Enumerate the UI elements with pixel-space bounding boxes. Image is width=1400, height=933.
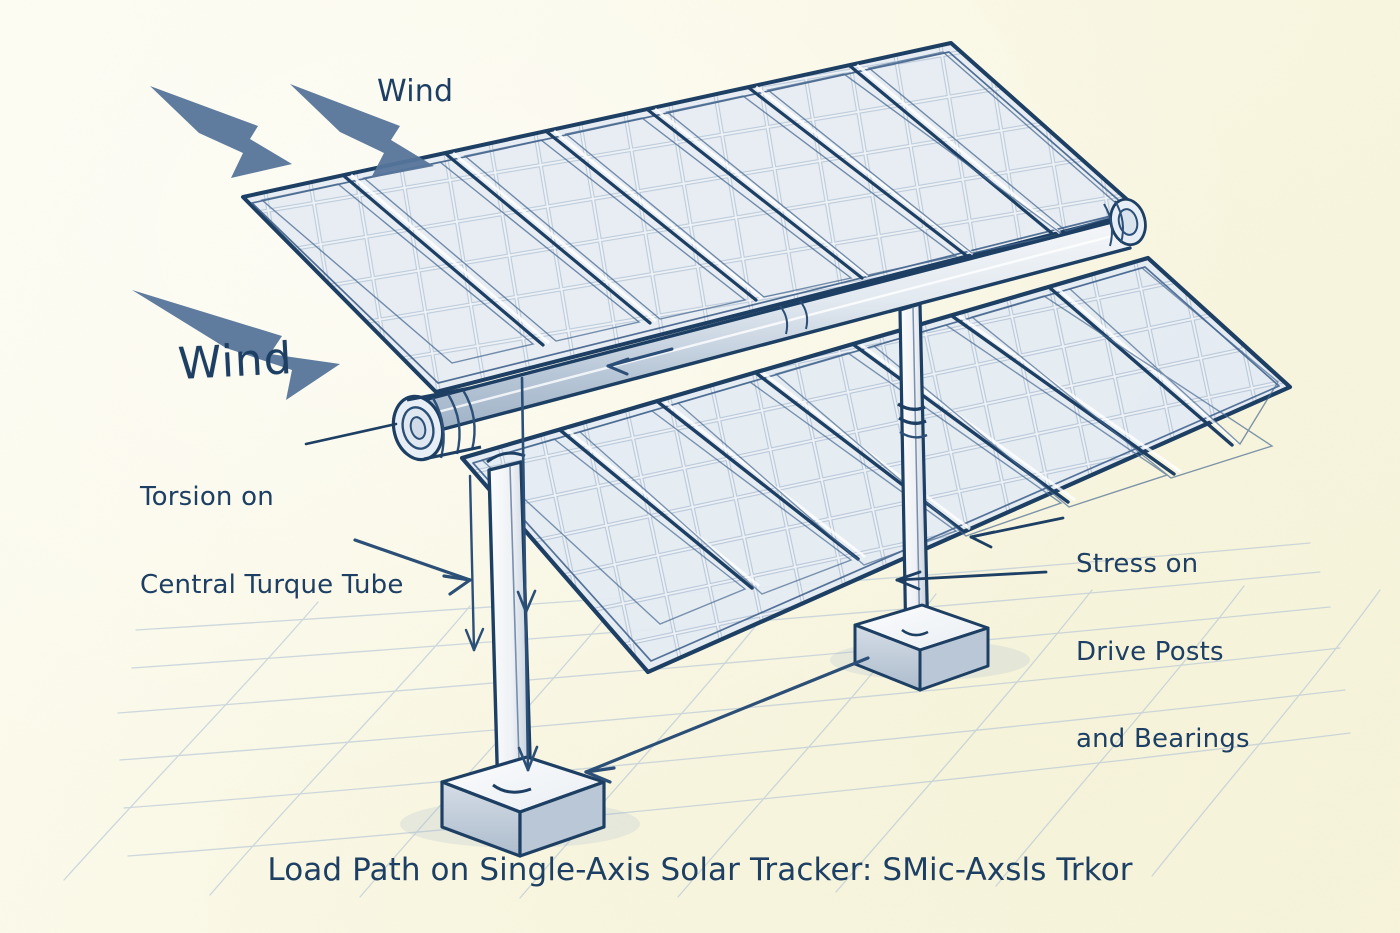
load-arrow-ground-left — [586, 658, 868, 782]
wind-label-main: Wind — [177, 334, 294, 389]
diagram-canvas: Wind Wind Torsion on Central Turque Tube… — [0, 0, 1400, 933]
stress-label-line-3: and Bearings — [1076, 725, 1250, 754]
torsion-label-line-1: Torsion on — [140, 483, 404, 512]
torsion-label-line-2: Central Turque Tube — [140, 571, 404, 600]
leader-stress-upper — [971, 518, 1063, 547]
load-arrow-down-post-b — [466, 476, 483, 650]
load-arrow-down-post-a — [518, 378, 537, 770]
wind-arrow-upper-left — [150, 86, 292, 178]
wind-label-top: Wind — [377, 75, 453, 109]
leader-stress-lower — [897, 572, 1046, 589]
torsion-label: Torsion on Central Turque Tube — [140, 425, 404, 658]
stress-label-line-2: Drive Posts — [1076, 638, 1250, 667]
stress-label: Stress on Drive Posts and Bearings — [1076, 492, 1250, 812]
stress-label-line-1: Stress on — [1076, 550, 1250, 579]
figure-caption: Load Path on Single-Axis Solar Tracker: … — [0, 853, 1400, 888]
